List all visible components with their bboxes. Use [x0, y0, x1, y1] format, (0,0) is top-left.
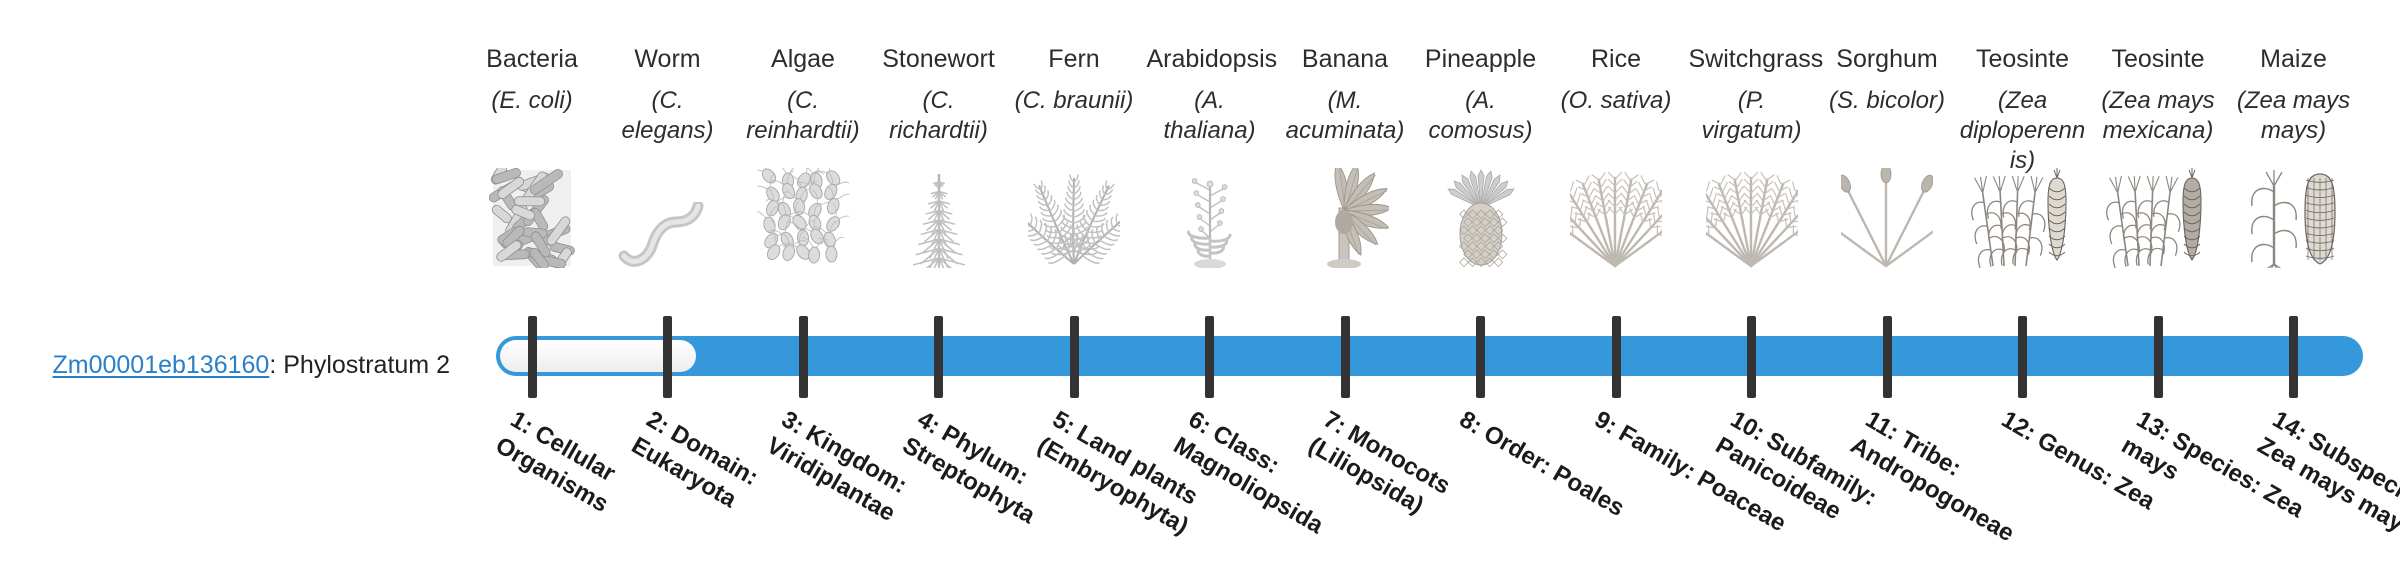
- algae-icon: [740, 168, 866, 268]
- species-scientific-name: (A. thaliana): [1147, 86, 1273, 146]
- phylostratum-tick-13[interactable]: [2154, 316, 2163, 398]
- phylostratum-tick-4[interactable]: [934, 316, 943, 398]
- phylostratum-tick-11[interactable]: [1883, 316, 1892, 398]
- phylostratum-tick-9[interactable]: [1612, 316, 1621, 398]
- phylostratum-tick-6[interactable]: [1205, 316, 1214, 398]
- species-column: Worm (C. elegans): [605, 44, 731, 146]
- rice-icon: [1553, 168, 1679, 268]
- species-column: Rice (O. sativa): [1553, 44, 1679, 116]
- species-column: Stonewort (C. richardtii): [876, 44, 1002, 146]
- species-common-name: Arabidopsis: [1147, 44, 1273, 74]
- stonewort-icon: [876, 168, 1002, 268]
- fern-icon: [1011, 168, 1137, 268]
- species-common-name: Algae: [740, 44, 866, 74]
- phylostratum-tick-3[interactable]: [799, 316, 808, 398]
- species-common-name: Maize: [2231, 44, 2357, 74]
- species-column: Banana (M. acuminata): [1282, 44, 1408, 146]
- phylostratum-tick-12[interactable]: [2018, 316, 2027, 398]
- species-scientific-name: (P. virgatum): [1689, 86, 1815, 146]
- worm-icon: [605, 168, 731, 268]
- species-scientific-name: (C. richardtii): [876, 86, 1002, 146]
- species-common-name: Pineapple: [1418, 44, 1544, 74]
- species-column: Maize (Zea mays mays): [2231, 44, 2357, 146]
- arabidopsis-icon: [1147, 168, 1273, 268]
- switchgrass-icon: [1689, 168, 1815, 268]
- species-common-name: Stonewort: [876, 44, 1002, 74]
- bacteria-icon: [469, 168, 595, 268]
- species-column: Bacteria (E. coli): [469, 44, 595, 116]
- species-column: Pineapple (A. comosus): [1418, 44, 1544, 146]
- species-common-name: Sorghum: [1824, 44, 1950, 74]
- species-common-name: Teosinte: [2095, 44, 2221, 74]
- species-column: Arabidopsis (A. thaliana): [1147, 44, 1273, 146]
- species-scientific-name: (A. comosus): [1418, 86, 1544, 146]
- phylostratum-progress-bar[interactable]: [496, 336, 2363, 376]
- species-common-name: Bacteria: [469, 44, 595, 74]
- phylostratum-chart: Zm00001eb136160: Phylostratum 2: [0, 0, 2400, 580]
- phylostratum-tick-1[interactable]: [528, 316, 537, 398]
- species-column: Algae (C. reinhardtii): [740, 44, 866, 146]
- banana-icon: [1282, 168, 1408, 268]
- species-scientific-name: (C. reinhardtii): [740, 86, 866, 146]
- species-common-name: Worm: [605, 44, 731, 74]
- gene-phylostratum-label: Zm00001eb136160: Phylostratum 2: [0, 353, 450, 378]
- species-common-name: Switchgrass: [1689, 44, 1815, 74]
- species-common-name: Banana: [1282, 44, 1408, 74]
- gene-label-separator: :: [269, 351, 283, 379]
- species-scientific-name: (C. braunii): [1011, 86, 1137, 116]
- species-common-name: Teosinte: [1960, 44, 2086, 74]
- phylostratum-value: Phylostratum 2: [283, 351, 450, 379]
- species-common-name: Rice: [1553, 44, 1679, 74]
- species-common-name: Fern: [1011, 44, 1137, 74]
- phylostratum-tick-10[interactable]: [1747, 316, 1756, 398]
- teosinte-diploperennis-icon: [1960, 168, 2086, 268]
- species-scientific-name: (Zea mays mexicana): [2095, 86, 2221, 146]
- species-scientific-name: (O. sativa): [1553, 86, 1679, 116]
- species-column: Fern (C. braunii): [1011, 44, 1137, 116]
- species-scientific-name: (C. elegans): [605, 86, 731, 146]
- species-scientific-name: (M. acuminata): [1282, 86, 1408, 146]
- phylostratum-tick-14[interactable]: [2289, 316, 2298, 398]
- phylostratum-tick-2[interactable]: [663, 316, 672, 398]
- species-scientific-name: (S. bicolor): [1824, 86, 1950, 116]
- species-column: Teosinte (Zea diploperennis): [1960, 44, 2086, 176]
- species-column: Teosinte (Zea mays mexicana): [2095, 44, 2221, 146]
- maize-icon: [2231, 168, 2357, 268]
- sorghum-icon: [1824, 168, 1950, 268]
- gene-id-link[interactable]: Zm00001eb136160: [52, 351, 269, 379]
- phylostratum-tick-5[interactable]: [1070, 316, 1079, 398]
- species-scientific-name: (Zea diploperennis): [1960, 86, 2086, 176]
- species-column: Sorghum (S. bicolor): [1824, 44, 1950, 116]
- species-scientific-name: (Zea mays mays): [2231, 86, 2357, 146]
- species-column: Switchgrass (P. virgatum): [1689, 44, 1815, 146]
- pineapple-icon: [1418, 168, 1544, 268]
- phylostratum-tick-8[interactable]: [1476, 316, 1485, 398]
- phylostratum-tick-7[interactable]: [1341, 316, 1350, 398]
- species-scientific-name: (E. coli): [469, 86, 595, 116]
- teosinte-mexicana-icon: [2095, 168, 2221, 268]
